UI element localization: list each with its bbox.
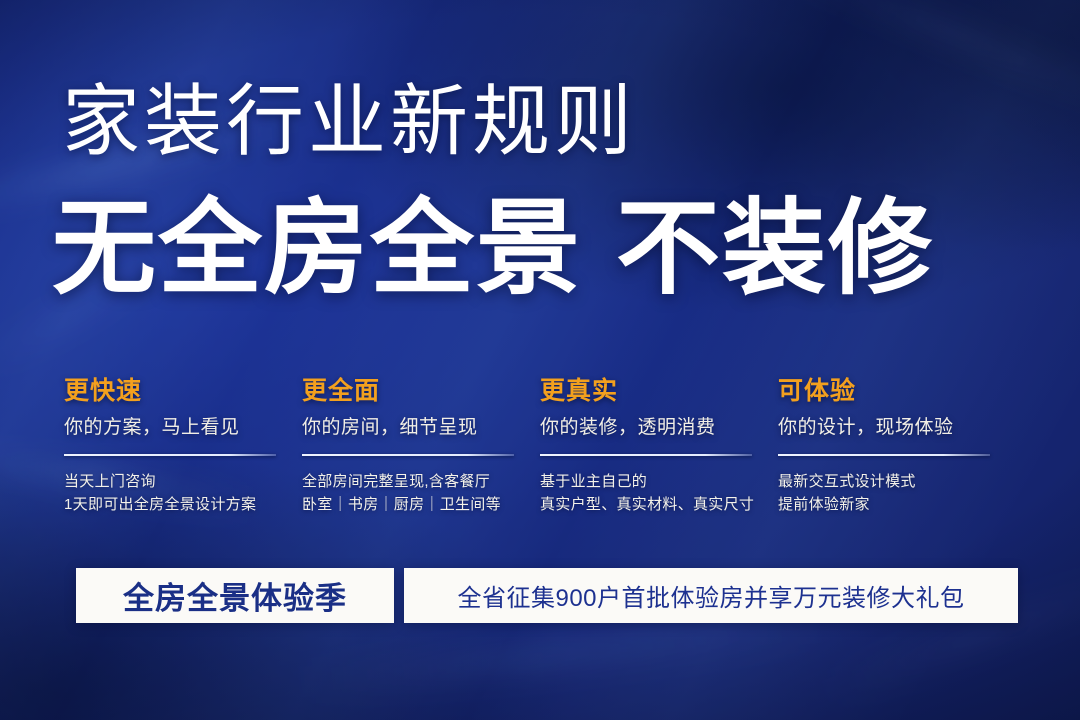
feature-title: 更真实	[540, 376, 778, 407]
poster-main-title: 无全房全景不装修	[52, 192, 934, 306]
feature-column-faster: 更快速 你的方案，马上看见 当天上门咨询 1天即可出全房全景设计方案	[64, 376, 302, 516]
feature-body-line: 真实户型、真实材料、真实尺寸	[540, 493, 778, 516]
main-title-part-2: 不装修	[616, 191, 934, 307]
banner-offer-label: 全省征集900户首批体验房并享万元装修大礼包	[457, 578, 964, 613]
feature-body: 最新交互式设计模式 提前体验新家	[778, 470, 1016, 517]
feature-body: 当天上门咨询 1天即可出全房全景设计方案	[64, 470, 302, 517]
bottom-banner: 全房全景体验季 全省征集900户首批体验房并享万元装修大礼包	[76, 568, 1018, 623]
feature-divider	[302, 454, 514, 456]
promo-poster: 家装行业新规则 无全房全景不装修 更快速 你的方案，马上看见 当天上门咨询 1天…	[0, 0, 1080, 720]
feature-body-line: 当天上门咨询	[64, 470, 302, 493]
feature-divider	[64, 454, 276, 456]
feature-subtitle: 你的装修，透明消费	[540, 416, 778, 441]
feature-body-line: 最新交互式设计模式	[778, 470, 1016, 493]
feature-subtitle: 你的方案，马上看见	[64, 416, 302, 441]
feature-title: 可体验	[778, 376, 1016, 407]
banner-campaign-badge: 全房全景体验季	[76, 568, 394, 623]
feature-column-authentic: 更真实 你的装修，透明消费 基于业主自己的 真实户型、真实材料、真实尺寸	[540, 376, 778, 516]
feature-column-experience: 可体验 你的设计，现场体验 最新交互式设计模式 提前体验新家	[778, 376, 1016, 516]
main-title-part-1: 无全房全景	[52, 191, 582, 307]
banner-divider	[394, 568, 404, 623]
feature-body-line: 基于业主自己的	[540, 470, 778, 493]
feature-subtitle: 你的房间，细节呈现	[302, 416, 540, 441]
banner-offer-box: 全省征集900户首批体验房并享万元装修大礼包	[404, 568, 1018, 623]
feature-body-line: 1天即可出全房全景设计方案	[64, 493, 302, 516]
feature-body-line: 卧室｜书房｜厨房｜卫生间等	[302, 493, 540, 516]
poster-headline: 家装行业新规则	[62, 82, 636, 160]
feature-body: 基于业主自己的 真实户型、真实材料、真实尺寸	[540, 470, 778, 517]
feature-divider	[540, 454, 752, 456]
feature-body: 全部房间完整呈现,含客餐厅 卧室｜书房｜厨房｜卫生间等	[302, 470, 540, 517]
feature-column-comprehensive: 更全面 你的房间，细节呈现 全部房间完整呈现,含客餐厅 卧室｜书房｜厨房｜卫生间…	[302, 376, 540, 516]
feature-body-line: 全部房间完整呈现,含客餐厅	[302, 470, 540, 493]
feature-title: 更快速	[64, 376, 302, 407]
poster-content: 家装行业新规则 无全房全景不装修 更快速 你的方案，马上看见 当天上门咨询 1天…	[0, 0, 1080, 720]
banner-campaign-label: 全房全景体验季	[123, 573, 347, 618]
feature-divider	[778, 454, 990, 456]
feature-columns: 更快速 你的方案，马上看见 当天上门咨询 1天即可出全房全景设计方案 更全面 你…	[64, 376, 1044, 516]
feature-body-line: 提前体验新家	[778, 493, 1016, 516]
feature-title: 更全面	[302, 376, 540, 407]
feature-subtitle: 你的设计，现场体验	[778, 416, 1016, 441]
